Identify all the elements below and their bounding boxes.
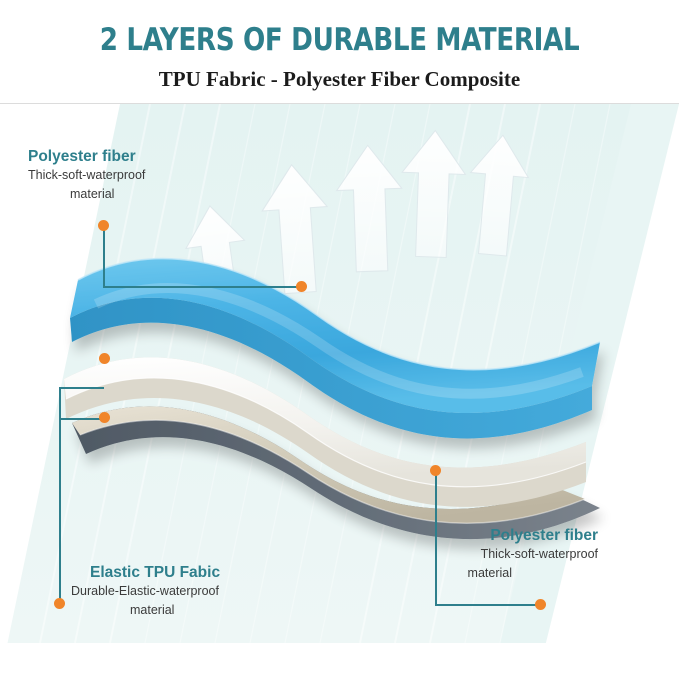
annotation-subline-1: Thick-soft-waterproof [378,545,598,564]
leader-line-right-horizontal [435,604,540,606]
annotation-subline-2: material [57,601,220,620]
leader-line-top-vertical [103,225,105,287]
infographic-page: 2 LAYERS OF DURABLE MATERIAL TPU Fabric … [0,0,679,679]
annotation-title: Polyester fiber [28,148,145,166]
annotation-title: Polyester fiber [378,527,598,545]
annotation-polyester-fiber-top: Polyester fiber Thick-soft-waterproof ma… [28,148,145,205]
background-wedge-bottom [0,643,679,679]
marker-dot-top-end [296,281,307,292]
annotation-polyester-fiber-bottom: Polyester fiber Thick-soft-waterproof ma… [378,527,598,584]
annotation-subline-2: material [378,564,598,583]
marker-dot-right-start [430,465,441,476]
header: 2 LAYERS OF DURABLE MATERIAL TPU Fabric … [0,0,679,92]
page-subtitle: TPU Fabric - Polyester Fiber Composite [0,58,679,92]
leader-line-right-vertical [435,470,437,605]
marker-dot-bottom-layer [99,412,110,423]
annotation-subline-1: Durable-Elastic-waterproof [57,582,220,601]
marker-dot-mid-layer [99,353,110,364]
annotation-subline-2: material [28,185,145,204]
leader-line-left-horizontal-lower [59,418,104,420]
marker-dot-top-start [98,220,109,231]
page-title: 2 LAYERS OF DURABLE MATERIAL [20,0,658,58]
marker-dot-right-end [535,599,546,610]
marker-dot-left-label [54,598,65,609]
annotation-title: Elastic TPU Fabic [57,564,220,582]
annotation-subline-1: Thick-soft-waterproof [28,166,145,185]
annotation-elastic-tpu-fabric: Elastic TPU Fabic Durable-Elastic-waterp… [57,564,220,621]
leader-line-top-horizontal [103,286,301,288]
leader-line-left-horizontal-upper [59,387,104,389]
